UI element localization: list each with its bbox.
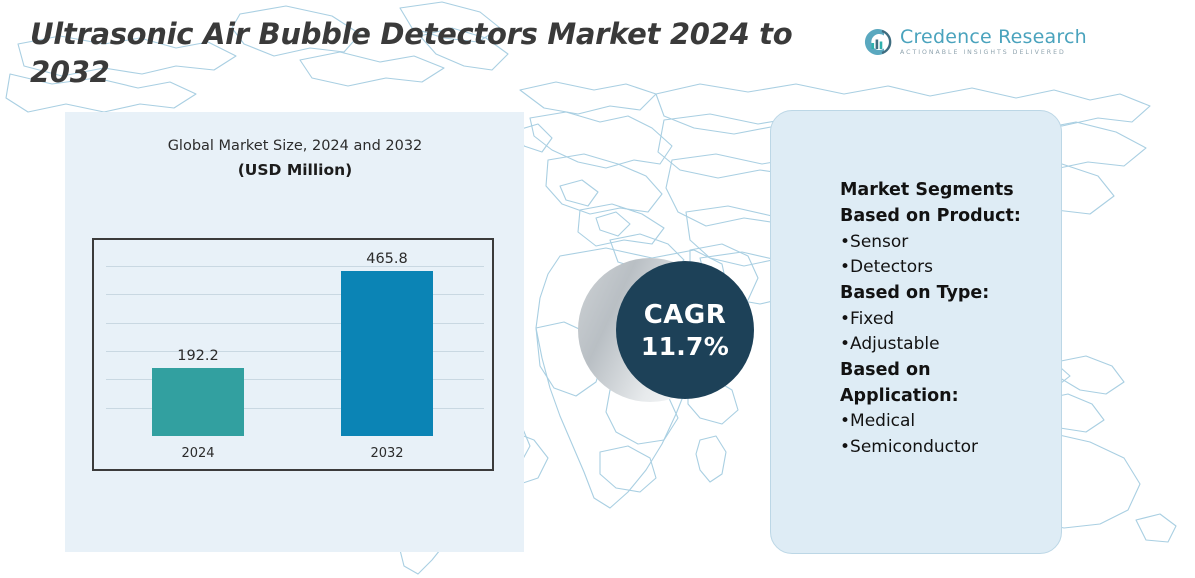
chart-category-label: 2032 [327, 446, 447, 461]
chart-title-line-2: (USD Million) [90, 161, 500, 179]
bar-chart: 192.22024465.82032 [92, 238, 494, 471]
logo-name: Credence Research [900, 28, 1087, 47]
segment-list-item: •Semiconductor [840, 435, 1055, 461]
chart-plot-area: 192.22024465.82032 [94, 240, 492, 469]
cagr-circle: CAGR 11.7% [616, 261, 754, 399]
chart-title-line-1: Global Market Size, 2024 and 2032 [90, 138, 500, 154]
segment-list-item: •Detectors [840, 255, 1055, 281]
bar-chart-circle-icon [862, 27, 892, 57]
chart-bar-value-label: 465.8 [327, 251, 447, 267]
segment-list-item: •Sensor [840, 230, 1055, 256]
segments-title: Market Segments [840, 178, 1055, 204]
market-segments-list: Market SegmentsBased on Product:•Sensor•… [840, 178, 1055, 460]
infographic-page: Ultrasonic Air Bubble Detectors Market 2… [0, 0, 1195, 578]
cagr-badge: CAGR 11.7% [578, 258, 760, 402]
segment-group-heading: Application: [840, 384, 1055, 410]
segment-group-heading: Based on Type: [840, 281, 1055, 307]
chart-category-label: 2024 [138, 446, 258, 461]
segment-group-heading: Based on [840, 358, 1055, 384]
segment-list-item: •Fixed [840, 307, 1055, 333]
segment-list-item: •Adjustable [840, 332, 1055, 358]
chart-bar [152, 368, 244, 436]
chart-bar-value-label: 192.2 [138, 348, 258, 364]
logo-tagline: Actionable Insights Delivered [900, 50, 1087, 56]
chart-title: Global Market Size, 2024 and 2032 (USD M… [90, 138, 500, 179]
chart-bar [341, 271, 433, 436]
page-title: Ultrasonic Air Bubble Detectors Market 2… [30, 15, 830, 92]
segment-list-item: •Medical [840, 409, 1055, 435]
brand-logo: Credence Research Actionable Insights De… [862, 27, 1087, 57]
cagr-value: 11.7% [641, 332, 729, 361]
cagr-label: CAGR [644, 300, 727, 330]
segment-group-heading: Based on Product: [840, 204, 1055, 230]
